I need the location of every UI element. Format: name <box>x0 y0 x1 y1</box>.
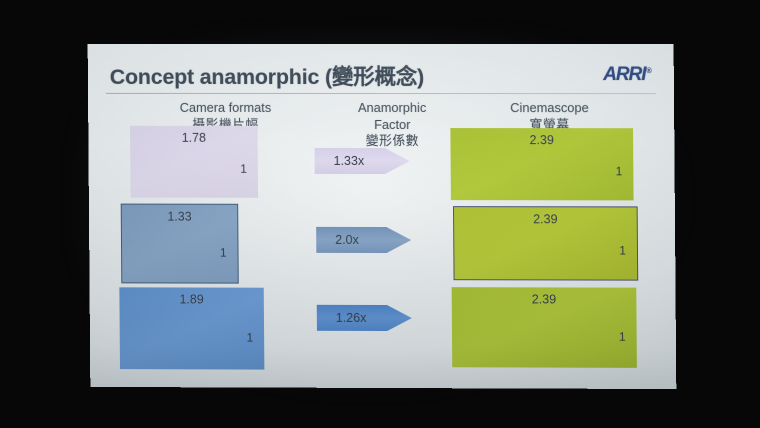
camera-format-ratio: 1.33 <box>122 210 238 224</box>
camera-format-unit: 1 <box>246 331 253 345</box>
cinemascope-unit: 1 <box>619 330 626 344</box>
column-header-cinemascope-en: Cinemascope <box>455 100 644 117</box>
camera-format-unit: 1 <box>220 245 227 259</box>
column-header-anamorphic-factor-line1: Anamorphic <box>309 100 475 117</box>
anamorphic-factor-label: 1.26x <box>336 311 367 325</box>
cinemascope-box: 2.39 1 <box>450 128 633 200</box>
anamorphic-factor-label: 2.0x <box>335 233 359 247</box>
anamorphic-factor-arrow: 1.33x <box>315 148 410 174</box>
slide-canvas: Concept anamorphic (變形概念) ARRI® Camera f… <box>88 44 677 389</box>
projected-slide-photo: Concept anamorphic (變形概念) ARRI® Camera f… <box>0 0 760 428</box>
camera-format-unit: 1 <box>240 162 247 176</box>
cinemascope-ratio: 2.39 <box>450 133 633 147</box>
trademark-icon: ® <box>646 68 651 75</box>
cinemascope-ratio: 2.39 <box>454 212 637 226</box>
page-title: Concept anamorphic (變形概念) <box>110 60 425 91</box>
camera-format-box: 1.33 1 <box>121 204 239 284</box>
arri-logo-text: ARRI <box>603 64 645 85</box>
arri-logo: ARRI® <box>603 64 652 86</box>
anamorphic-factor-label: 1.33x <box>334 154 365 168</box>
camera-format-box: 1.89 1 <box>119 287 264 369</box>
camera-format-ratio: 1.89 <box>119 292 263 306</box>
cinemascope-ratio: 2.39 <box>452 292 637 307</box>
column-header-camera-formats-en: Camera formats <box>136 100 315 117</box>
cinemascope-box: 2.39 1 <box>452 287 637 368</box>
cinemascope-unit: 1 <box>616 165 623 179</box>
camera-format-box: 1.78 1 <box>130 126 258 198</box>
cinemascope-box: 2.39 1 <box>453 206 638 281</box>
anamorphic-factor-arrow: 2.0x <box>316 227 411 253</box>
anamorphic-factor-arrow: 1.26x <box>317 305 412 331</box>
title-divider <box>106 93 656 94</box>
cinemascope-unit: 1 <box>619 244 626 258</box>
slide-surface: Concept anamorphic (變形概念) ARRI® Camera f… <box>88 44 677 389</box>
camera-format-ratio: 1.78 <box>130 131 258 145</box>
